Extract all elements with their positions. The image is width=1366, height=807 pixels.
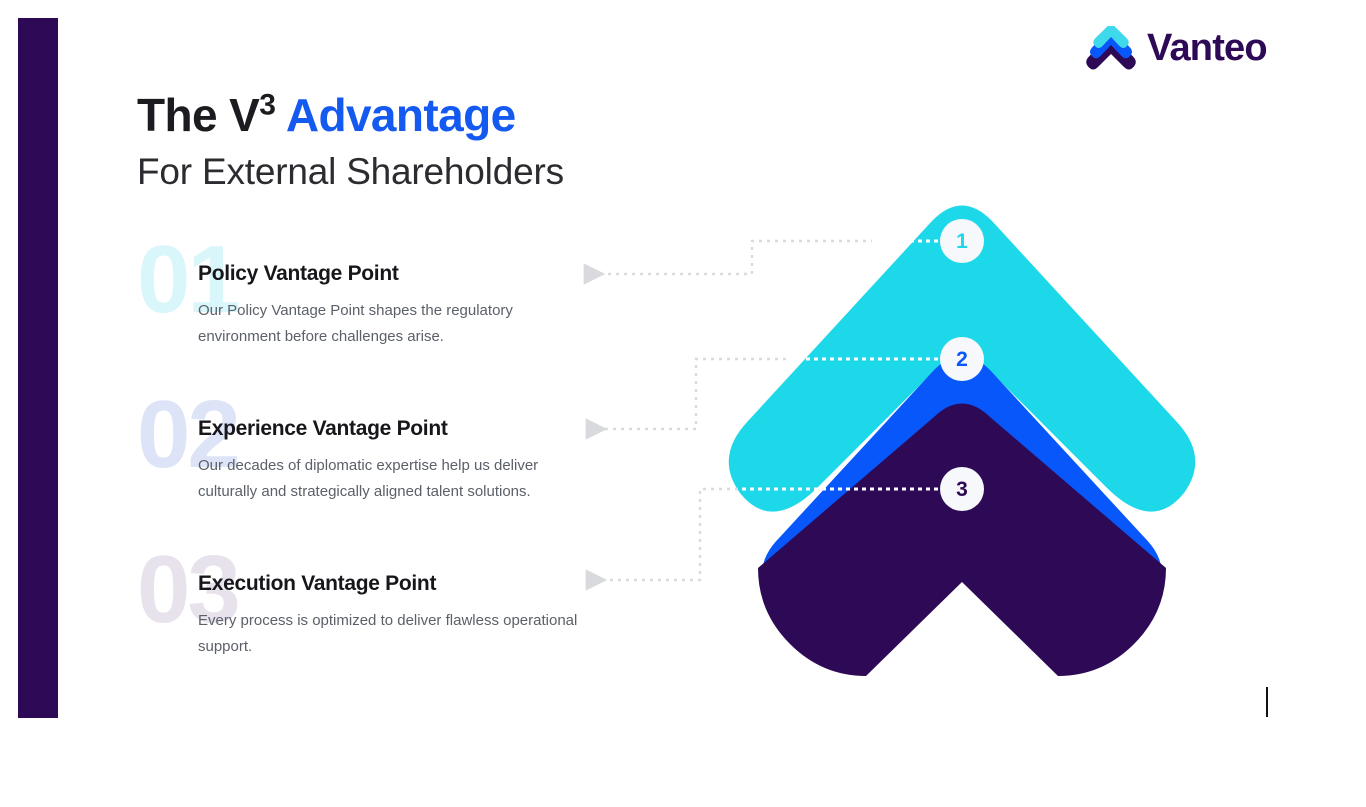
feature-title: Policy Vantage Point: [198, 262, 399, 286]
left-accent-bar: [18, 18, 58, 718]
badge-2[interactable]: 2: [940, 337, 984, 381]
brand-name: Vanteo: [1147, 29, 1267, 67]
feature-item-3[interactable]: 03 Execution Vantage Point Every process…: [137, 546, 607, 701]
brand-logo[interactable]: Vanteo: [1084, 26, 1267, 70]
feature-title: Execution Vantage Point: [198, 572, 436, 596]
badge-1[interactable]: 1: [940, 219, 984, 263]
feature-description: Every process is optimized to deliver fl…: [198, 608, 598, 660]
page-subtitle: For External Shareholders: [137, 150, 564, 194]
slide-canvas: Vanteo The V3 Advantage For External Sha…: [0, 0, 1366, 807]
feature-list: 01 Policy Vantage Point Our Policy Vanta…: [137, 236, 607, 701]
page-title: The V3 Advantage: [137, 88, 516, 142]
title-accent: Advantage: [286, 89, 516, 141]
feature-description: Our decades of diplomatic expertise help…: [198, 453, 598, 505]
text-caret: [1266, 687, 1268, 717]
feature-title: Experience Vantage Point: [198, 417, 448, 441]
feature-item-2[interactable]: 02 Experience Vantage Point Our decades …: [137, 391, 607, 546]
badge-3[interactable]: 3: [940, 467, 984, 511]
feature-item-1[interactable]: 01 Policy Vantage Point Our Policy Vanta…: [137, 236, 607, 391]
vanteo-chevron-logo-icon: [1084, 26, 1138, 70]
title-superscript: 3: [259, 89, 275, 122]
feature-description: Our Policy Vantage Point shapes the regu…: [198, 298, 598, 350]
title-prefix: The V: [137, 89, 259, 141]
